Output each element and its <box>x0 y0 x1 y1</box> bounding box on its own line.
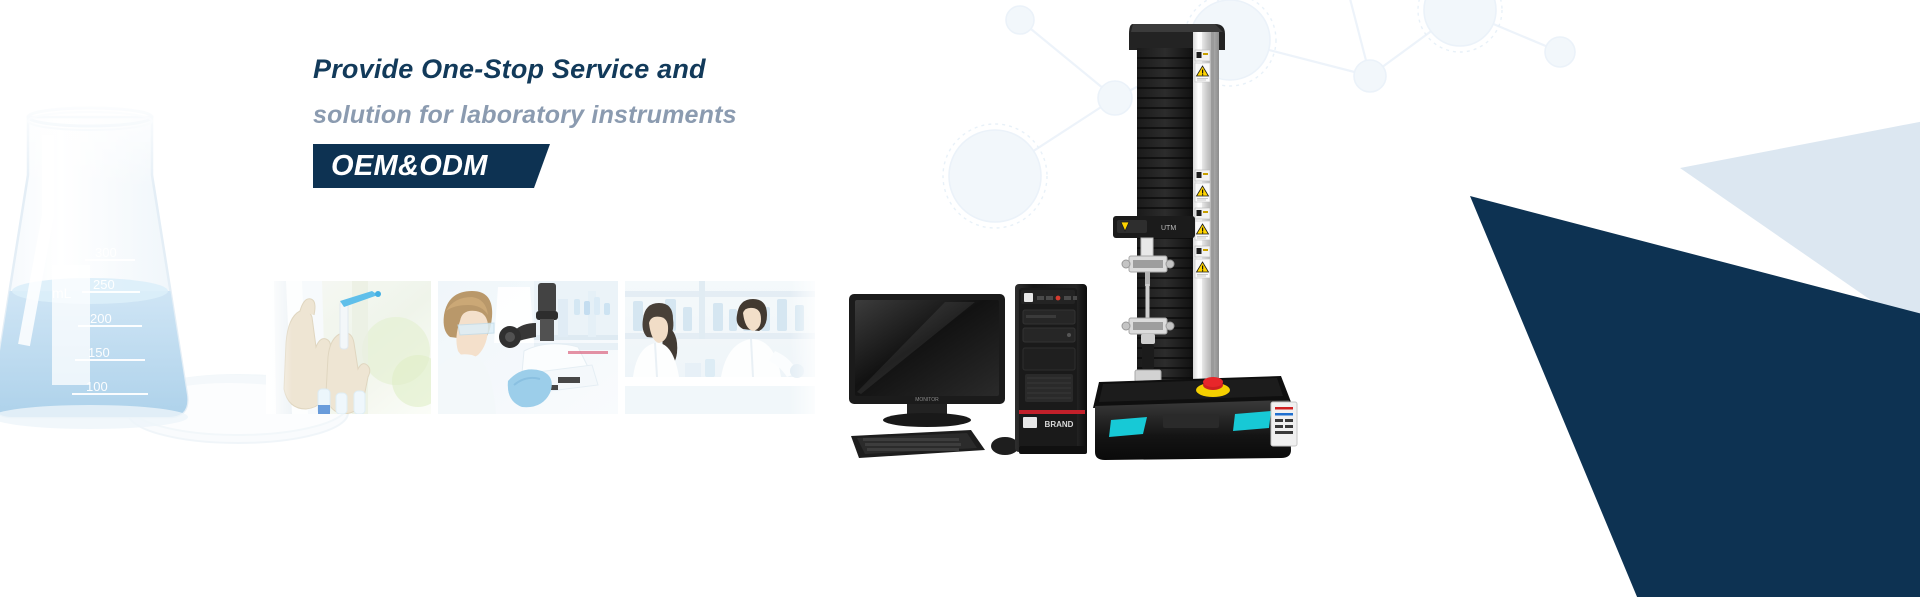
oem-odm-badge-label: OEM&ODM <box>331 151 488 181</box>
monitor: MONITOR <box>849 294 1005 427</box>
machine-base <box>1093 376 1297 460</box>
universal-testing-machine: UTM <box>1085 10 1305 460</box>
decor-arrow-dark <box>1470 196 1920 597</box>
mouse <box>991 437 1019 455</box>
headline-line-2: solution for laboratory instruments <box>313 103 1013 128</box>
desktop-computer: MONITOR <box>845 270 1115 470</box>
oem-odm-badge: OEM&ODM <box>313 144 558 188</box>
svg-text:UTM: UTM <box>1161 225 1176 232</box>
headline-line-1: Provide One-Stop Service and <box>313 56 1013 83</box>
svg-text:200: 200 <box>90 311 112 326</box>
pc-tower: BRAND <box>1015 284 1087 454</box>
keyboard <box>851 430 985 458</box>
photo-microscope-researcher <box>438 281 618 414</box>
svg-text:BRAND: BRAND <box>1045 420 1074 429</box>
svg-text:150: 150 <box>88 345 110 360</box>
headline-block: Provide One-Stop Service and solution fo… <box>313 56 1013 188</box>
hero-banner: 300 250 200 150 100 mL Provide One-Stop … <box>0 0 1920 597</box>
svg-text:MONITOR: MONITOR <box>915 397 939 403</box>
crosshead: UTM <box>1113 216 1195 238</box>
svg-text:250: 250 <box>93 277 115 292</box>
svg-text:mL: mL <box>52 285 72 301</box>
photo-strip-fade-right <box>790 281 824 414</box>
photo-lab-workers-bench <box>625 281 815 414</box>
lab-photo-strip <box>266 281 815 414</box>
photo-strip-fade-left <box>266 281 292 414</box>
svg-text:100: 100 <box>86 379 108 394</box>
